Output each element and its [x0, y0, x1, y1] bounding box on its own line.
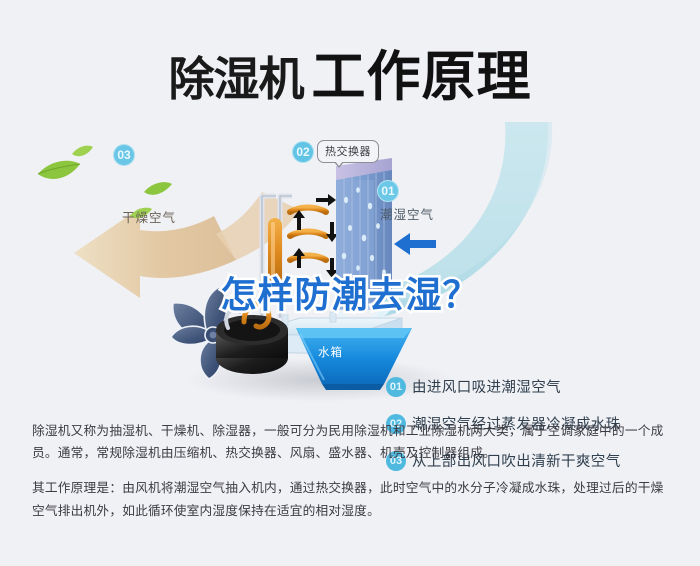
- dry-air-label: 干燥空气: [122, 207, 176, 226]
- badge-02-heat-exchanger: 02: [292, 141, 314, 163]
- water-tank-label: 水箱: [318, 344, 343, 360]
- page-title: 除湿机工作原理: [0, 32, 700, 111]
- dehumidifier-diagram: 03 02 01 热交换器 干燥空气 潮湿空气 水箱 01 由进风口吸进潮湿空气…: [0, 122, 700, 407]
- copy-paragraph-2: 其工作原理是：由风机将潮湿空气抽入机内，通过热交换器，此时空气中的水分子冷凝成水…: [32, 477, 672, 521]
- intake-arrow: [394, 233, 436, 255]
- page-root: 除湿机工作原理: [0, 0, 700, 566]
- badge-03-dry-air: 03: [113, 144, 135, 166]
- leaf-icon: [144, 182, 172, 195]
- leaf-icon: [38, 161, 80, 179]
- diagram-illustration: [0, 122, 700, 407]
- body-copy: 除湿机又称为抽湿机、干燥机、除湿器，一般可分为民用除湿机和工业除湿机两大类，属于…: [32, 420, 672, 535]
- legend-badge-01: 01: [386, 377, 406, 397]
- leaf-icon: [72, 146, 93, 157]
- page-title-part2: 工作原理: [312, 47, 532, 107]
- overlay-headline: 怎样防潮去湿？: [0, 266, 700, 318]
- copy-paragraph-1: 除湿机又称为抽湿机、干燥机、除湿器，一般可分为民用除湿机和工业除湿机两大类，属于…: [32, 420, 672, 464]
- legend-item: 01 由进风口吸进潮湿空气: [386, 376, 686, 397]
- heat-exchanger-callout: 热交换器: [317, 140, 379, 163]
- humid-air-label: 潮湿空气: [380, 204, 434, 223]
- legend-text-01: 由进风口吸进潮湿空气: [412, 376, 561, 397]
- badge-01-humid-air: 01: [377, 180, 399, 202]
- page-title-part1: 除湿机: [169, 53, 304, 105]
